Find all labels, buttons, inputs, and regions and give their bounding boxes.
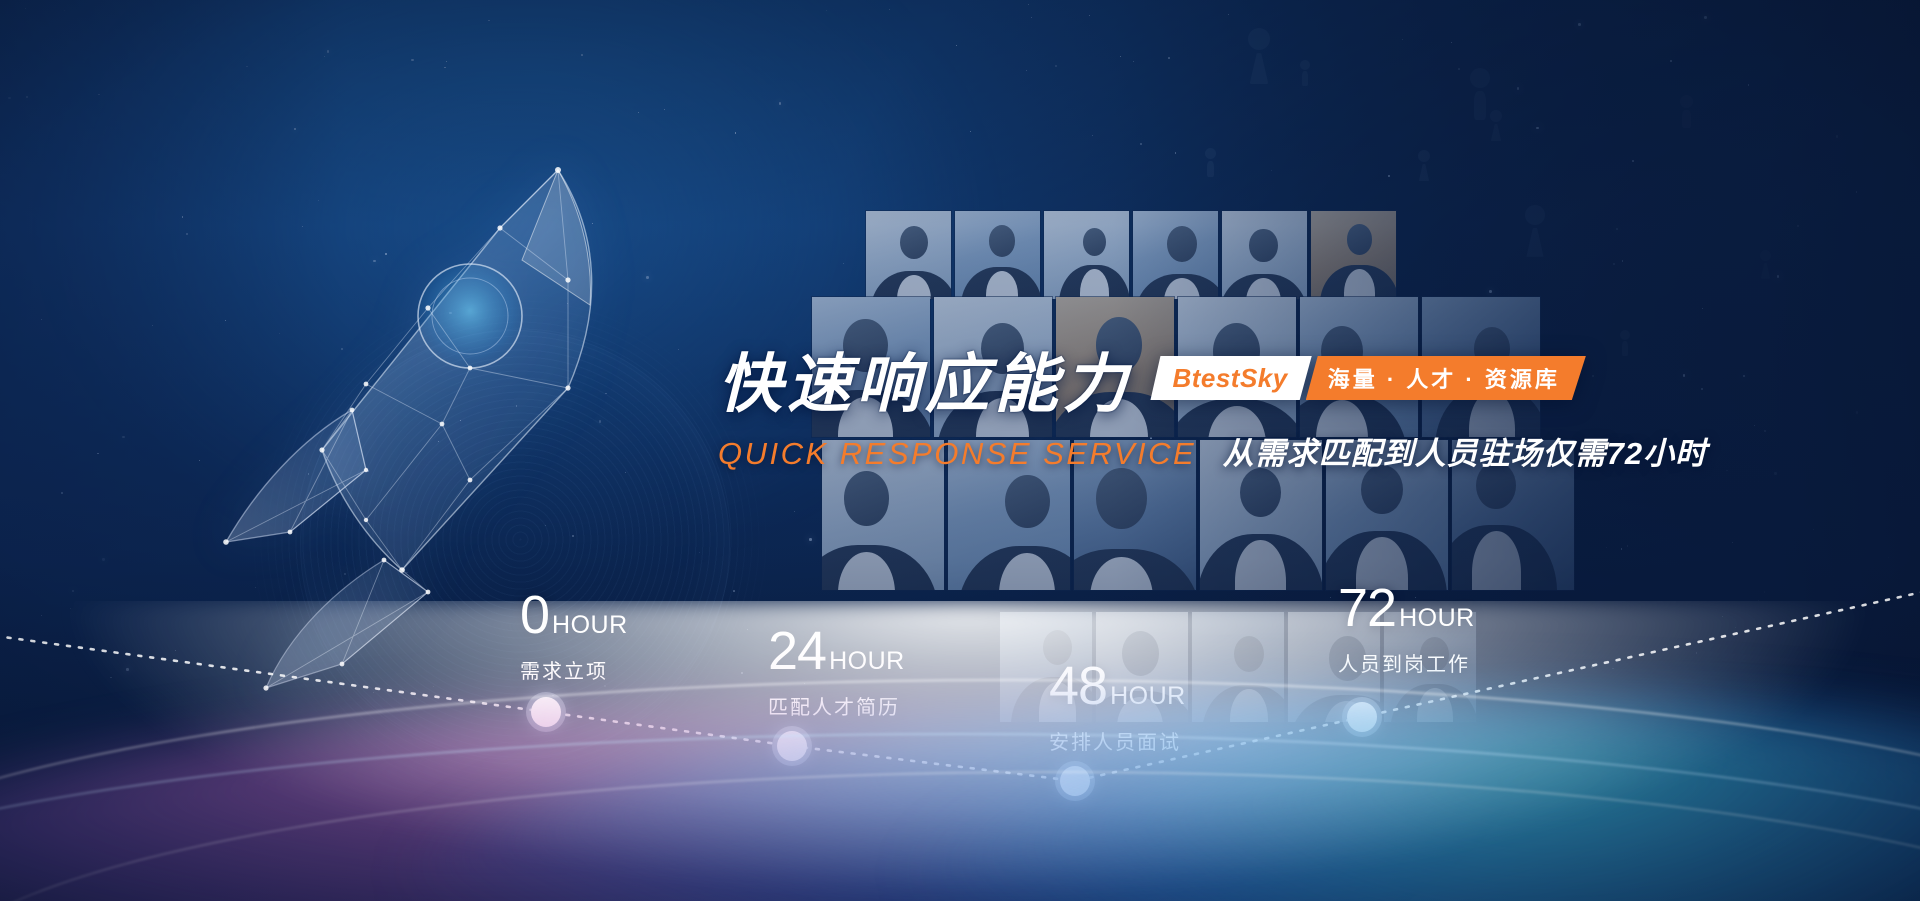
vignette-overlay bbox=[0, 0, 1920, 901]
banner-canvas: 快速响应能力 BtestSky 海量 · 人才 · 资源库 QUICK RESP… bbox=[0, 0, 1920, 901]
